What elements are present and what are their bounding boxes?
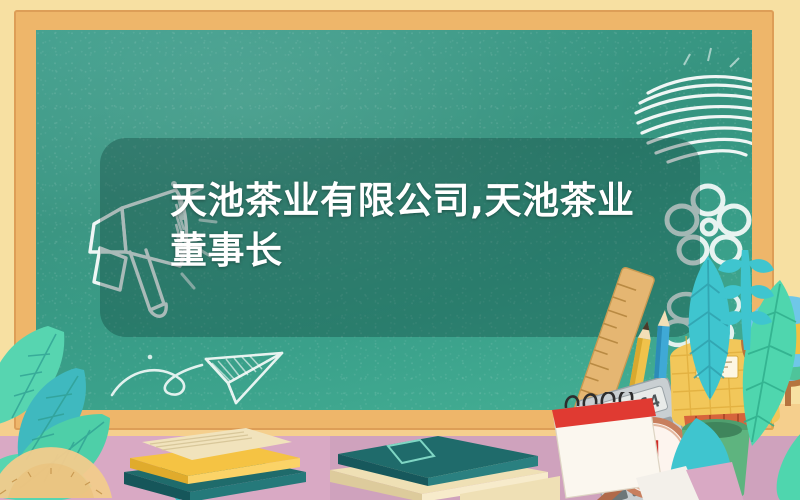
illustration-canvas: 天池茶业有限公司,天池茶业董事长 [0, 0, 800, 500]
book-stack-center [310, 398, 560, 500]
protractor [0, 432, 116, 500]
paper-sheets [636, 460, 756, 500]
book-stack-left [120, 410, 310, 500]
page-title: 天池茶业有限公司,天池茶业董事长 [170, 176, 640, 276]
